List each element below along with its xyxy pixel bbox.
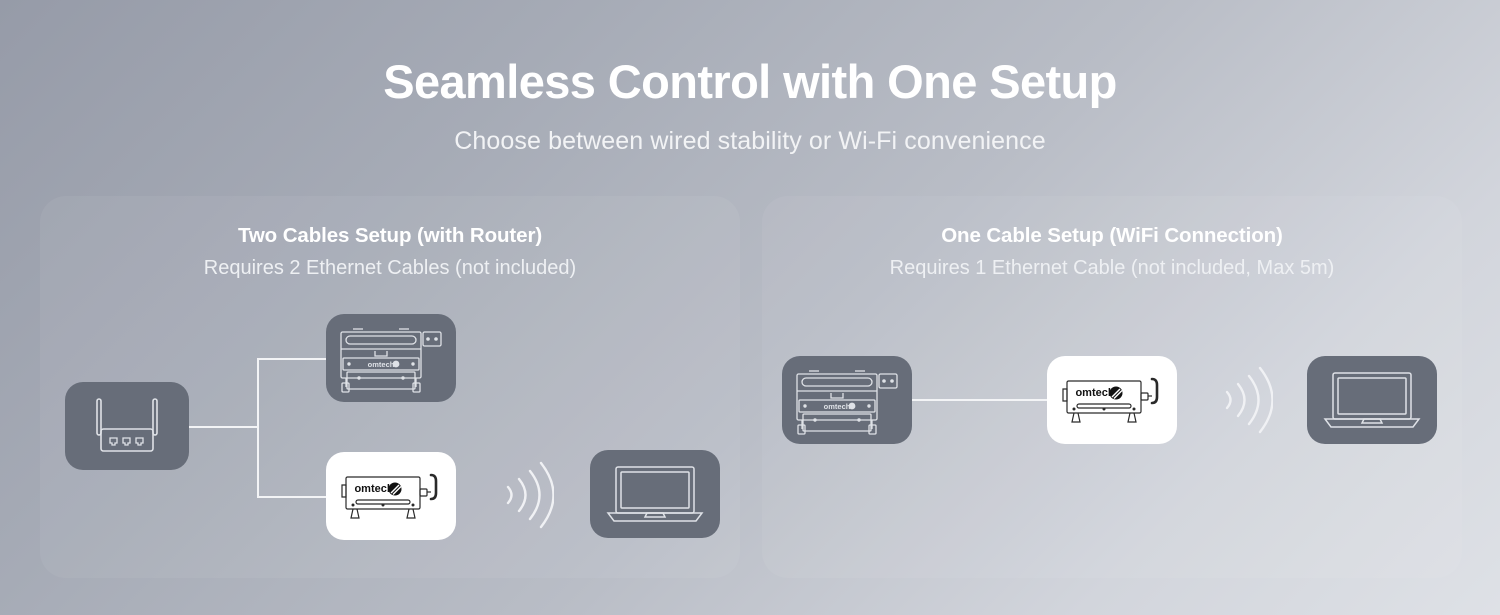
brand-label: omtech <box>354 483 393 495</box>
panel-two-cables-setup: Two Cables Setup (with Router) Requires … <box>40 196 740 578</box>
laptop-icon <box>604 462 706 526</box>
wire-trunk-to-laser <box>257 358 327 360</box>
laser-machine-icon: omtech <box>793 365 901 435</box>
wifi-signal <box>498 458 554 532</box>
page-subtitle: Choose between wired stability or Wi-Fi … <box>0 127 1500 156</box>
brand-label: omtech <box>824 402 851 411</box>
page-title: Seamless Control with One Setup <box>0 58 1500 105</box>
wire-router-to-trunk <box>188 426 258 428</box>
page-header: Seamless Control with One Setup Choose b… <box>0 0 1500 156</box>
node-router[interactable] <box>65 382 189 470</box>
panel-one-cable-setup: One Cable Setup (WiFi Connection) Requir… <box>762 196 1462 578</box>
node-laptop[interactable] <box>1307 356 1437 444</box>
router-icon <box>84 397 170 455</box>
node-wifi-controller[interactable]: omtech <box>326 452 456 540</box>
wire-laser-to-controller <box>902 399 1052 401</box>
laser-machine-icon: omtech <box>337 323 445 393</box>
wifi-waves-icon <box>498 458 554 532</box>
wifi-signal <box>1217 363 1273 437</box>
node-laptop[interactable] <box>590 450 720 538</box>
wire-trunk-to-controller <box>257 496 327 498</box>
brand-label: omtech <box>368 360 395 369</box>
node-laser-machine[interactable]: omtech <box>326 314 456 402</box>
node-wifi-controller[interactable]: omtech <box>1047 356 1177 444</box>
laptop-icon <box>1321 368 1423 432</box>
brand-label: omtech <box>1075 387 1114 399</box>
wire-trunk-vertical <box>257 358 259 498</box>
node-laser-machine[interactable]: omtech <box>782 356 912 444</box>
wifi-controller-icon: omtech <box>1057 369 1167 431</box>
diagram-one-cable: omtech <box>762 196 1462 578</box>
diagram-two-cables: omtech <box>40 196 740 578</box>
wifi-controller-icon: omtech <box>336 465 446 527</box>
wifi-waves-icon <box>1217 363 1273 437</box>
setup-panels: Two Cables Setup (with Router) Requires … <box>40 196 1462 578</box>
